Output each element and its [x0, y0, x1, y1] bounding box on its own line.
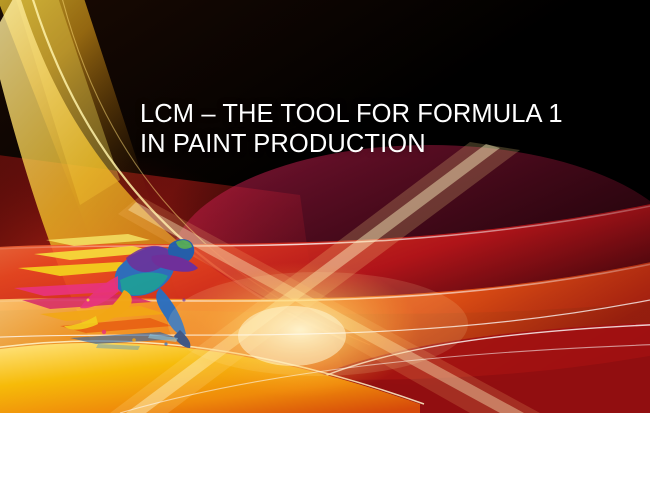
slide-footer: ORNTEC the measurement and process exper…	[0, 413, 650, 494]
presentation-slide: LCM – THE TOOL FOR FORMULA 1 IN PAINT PR…	[0, 0, 650, 494]
hero-artwork	[0, 0, 650, 413]
abstract-background-graphic	[0, 0, 650, 413]
